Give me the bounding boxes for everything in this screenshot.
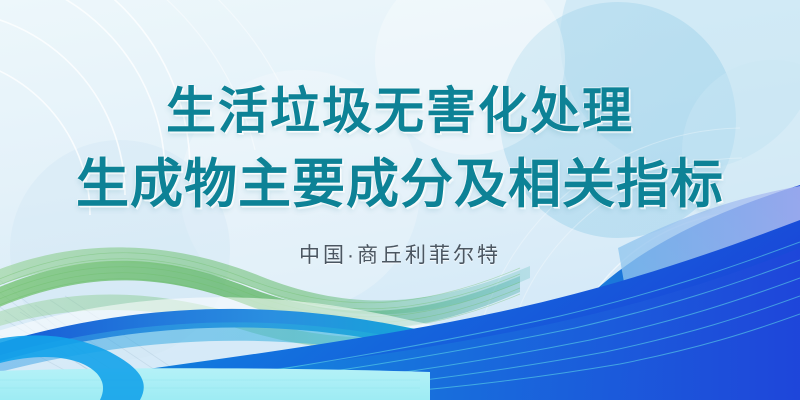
title-line-2: 生成物主要成分及相关指标 [76,158,724,211]
banner-poster: 生活垃圾无害化处理 生成物主要成分及相关指标 中国·商丘利菲尔特 [0,0,800,400]
title-line-1: 生活垃圾无害化处理 [166,86,634,136]
banner-content: 生活垃圾无害化处理 生成物主要成分及相关指标 中国·商丘利菲尔特 [0,0,800,400]
subtitle: 中国·商丘利菲尔特 [299,239,501,269]
